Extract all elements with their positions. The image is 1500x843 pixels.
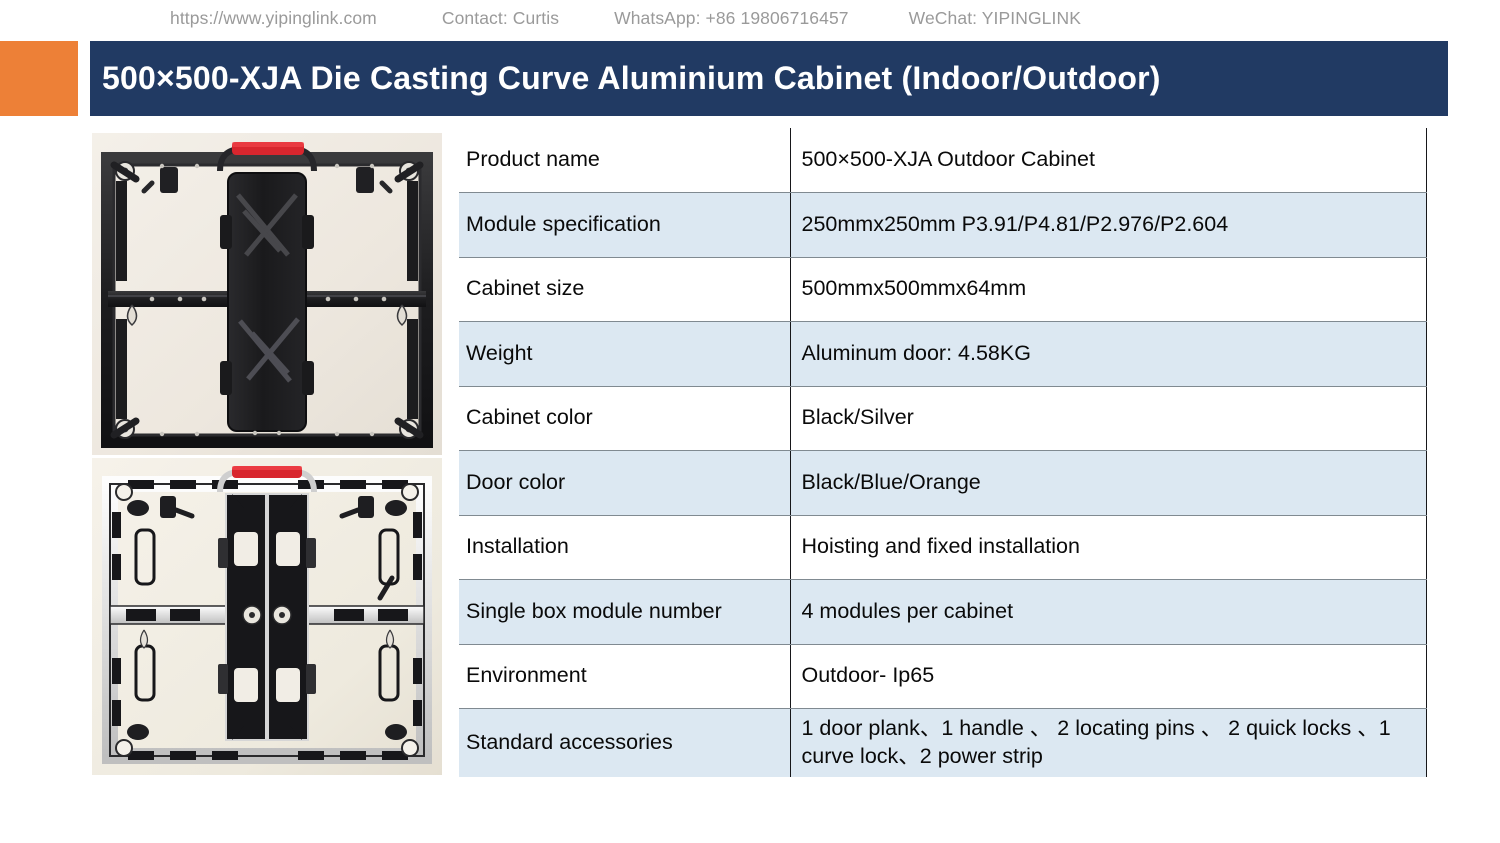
black-cabinet-illustration [92, 133, 442, 455]
table-row: Single box module number 4 modules per c… [459, 580, 1426, 645]
spec-key: Standard accessories [459, 709, 790, 777]
slide-page: https://www.yipinglink.com Contact: Curt… [0, 0, 1500, 843]
spec-value: Black/Blue/Orange [790, 451, 1426, 516]
wechat-id: WeChat: YIPINGLINK [909, 8, 1081, 29]
specification-table-body: Product name 500×500-XJA Outdoor Cabinet… [459, 128, 1426, 777]
spec-value: 4 modules per cabinet [790, 580, 1426, 645]
contact-name: Contact: Curtis [442, 8, 559, 29]
table-row: Installation Hoisting and fixed installa… [459, 515, 1426, 580]
spec-value: Hoisting and fixed installation [790, 515, 1426, 580]
page-title: 500×500-XJA Die Casting Curve Aluminium … [90, 60, 1161, 97]
table-row: Environment Outdoor- Ip65 [459, 644, 1426, 709]
product-photo-black-cabinet [92, 133, 442, 455]
spec-value: 500mmx500mmx64mm [790, 257, 1426, 322]
product-photo-silver-cabinet [92, 458, 442, 775]
spec-key: Product name [459, 128, 790, 193]
spec-key: Module specification [459, 193, 790, 258]
spec-value: Outdoor- Ip65 [790, 644, 1426, 709]
spec-key: Cabinet size [459, 257, 790, 322]
spec-key: Cabinet color [459, 386, 790, 451]
spec-key: Door color [459, 451, 790, 516]
website-link[interactable]: https://www.yipinglink.com [170, 8, 377, 29]
contact-header-bar: https://www.yipinglink.com Contact: Curt… [0, 0, 1500, 36]
table-row: Cabinet color Black/Silver [459, 386, 1426, 451]
title-banner: 500×500-XJA Die Casting Curve Aluminium … [90, 41, 1448, 116]
spec-value: 500×500-XJA Outdoor Cabinet [790, 128, 1426, 193]
spec-value: Aluminum door: 4.58KG [790, 322, 1426, 387]
table-row: Product name 500×500-XJA Outdoor Cabinet [459, 128, 1426, 193]
spec-key: Environment [459, 644, 790, 709]
spec-key: Single box module number [459, 580, 790, 645]
spec-key: Weight [459, 322, 790, 387]
spec-value: Black/Silver [790, 386, 1426, 451]
table-row: Standard accessories 1 door plank、1 hand… [459, 709, 1426, 777]
orange-accent-block [0, 41, 78, 116]
table-row: Weight Aluminum door: 4.58KG [459, 322, 1426, 387]
silver-cabinet-illustration [92, 458, 442, 775]
table-row: Module specification 250mmx250mm P3.91/P… [459, 193, 1426, 258]
whatsapp-number: WhatsApp: +86 19806716457 [614, 8, 849, 29]
spec-key: Installation [459, 515, 790, 580]
spec-value: 250mmx250mm P3.91/P4.81/P2.976/P2.604 [790, 193, 1426, 258]
table-row: Door color Black/Blue/Orange [459, 451, 1426, 516]
spec-value: 1 door plank、1 handle 、 2 locating pins … [790, 709, 1426, 777]
table-row: Cabinet size 500mmx500mmx64mm [459, 257, 1426, 322]
specification-table: Product name 500×500-XJA Outdoor Cabinet… [459, 128, 1427, 777]
